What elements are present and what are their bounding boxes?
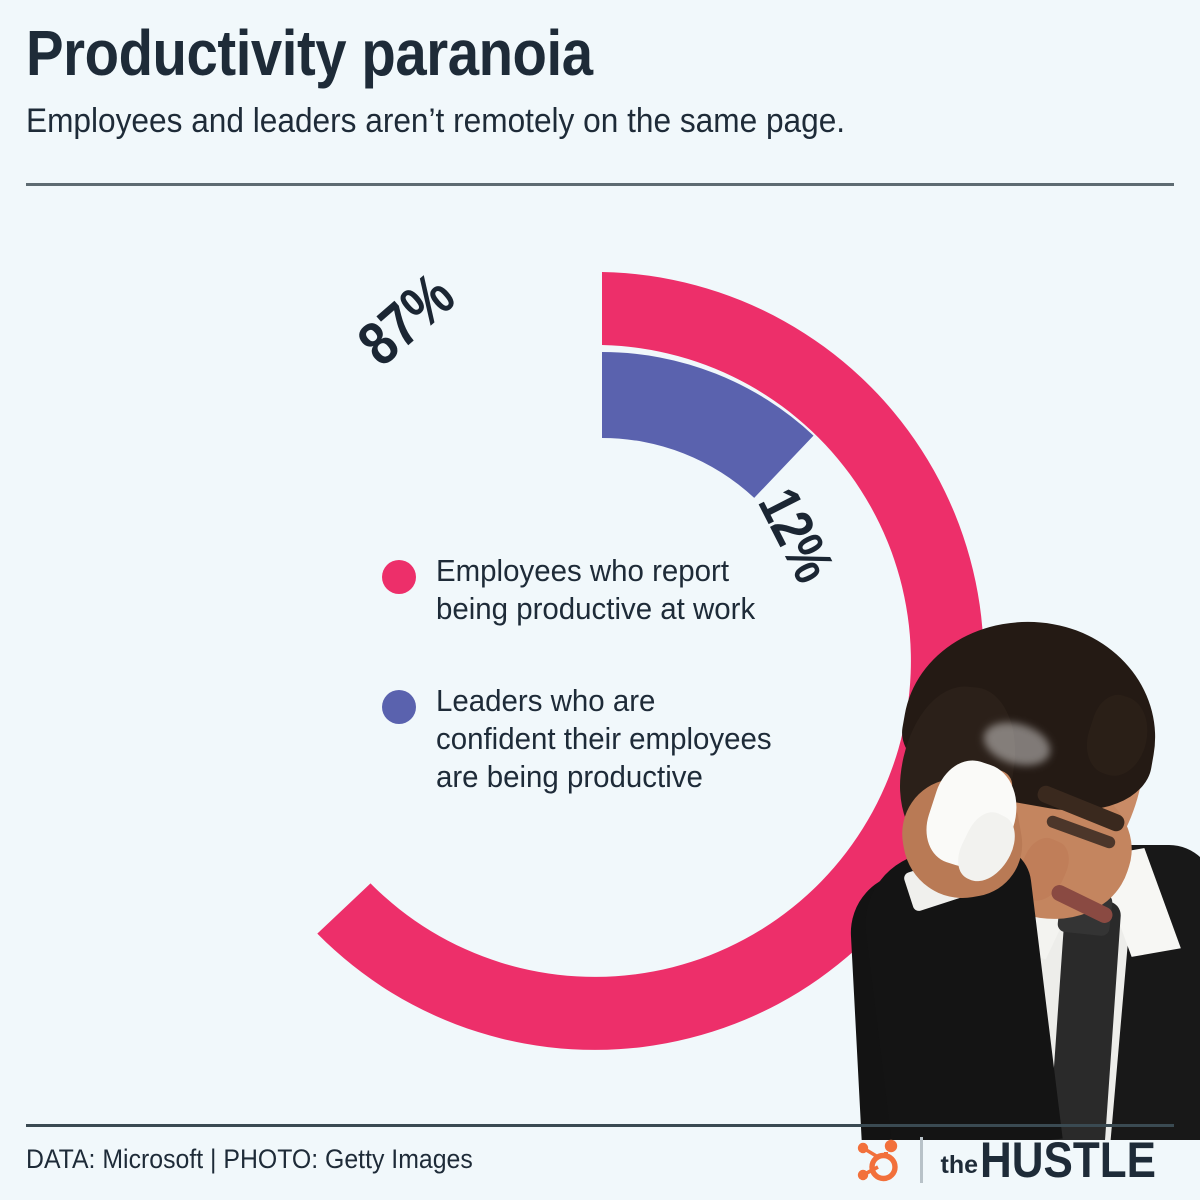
source-credit: DATA: Microsoft | PHOTO: Getty Images [26,1144,473,1175]
hubspot-sprocket-icon [852,1134,904,1186]
header: Productivity paranoia Employees and lead… [26,18,1176,142]
value-label-87-percent: 87% [348,263,465,377]
header-divider [26,183,1174,186]
brand-lockup: the HUSTLE [852,1134,1181,1186]
photo-stressed-man [845,600,1200,1140]
legend-label-employees: Employees who report being productive at… [436,552,755,628]
brand-hustle-label: HUSTLE [980,1135,1156,1185]
legend-item-leaders: Leaders who are confident their employee… [382,682,822,796]
brand-the-label: the [941,1151,979,1180]
page-title: Productivity paranoia [26,18,1038,88]
chart-legend: Employees who report being productive at… [382,552,822,850]
page-subtitle: Employees and leaders aren’t remotely on… [26,100,1096,142]
footer-divider [26,1124,1174,1127]
infographic-page: Productivity paranoia Employees and lead… [0,0,1200,1200]
arc-leaders-12 [602,352,814,498]
brand-divider [920,1137,923,1183]
legend-item-employees: Employees who report being productive at… [382,552,822,628]
legend-swatch-pink-circle-icon [382,560,416,594]
legend-swatch-purple-circle-icon [382,690,416,724]
legend-label-leaders: Leaders who are confident their employee… [436,682,772,796]
